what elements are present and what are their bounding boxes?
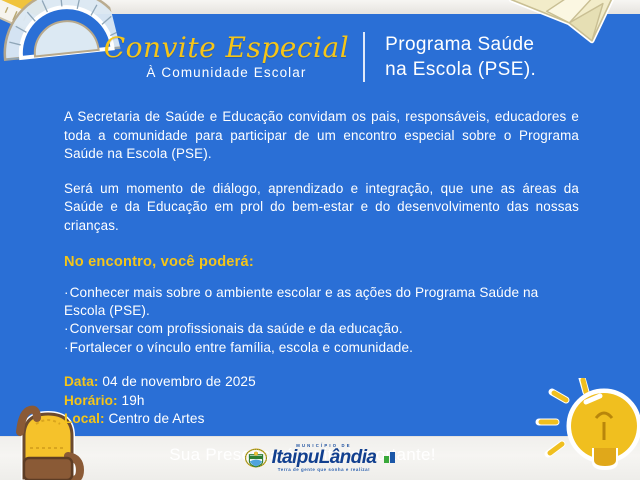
detail-row: Horário: 19h [64,392,579,411]
detail-label: Horário: [64,393,118,408]
invitation-poster: Convite Especial À Comunidade Escolar Pr… [0,0,640,480]
header-divider [363,32,365,82]
detail-value: Centro de Artes [105,411,205,426]
logo-text-block: MUNICÍPIO DE ItaipuLândia Terra de gente… [272,444,377,473]
program-title: Programa Saúdena Escola (PSE). [369,32,536,82]
municipal-logo: MUNICÍPIO DE ItaipuLândia Terra de gente… [245,444,396,473]
logo-tagline: Terra de gente que sonha e realiza! [272,468,377,472]
intro-paragraph-2: Será um momento de diálogo, aprendizado … [64,180,579,236]
detail-label: Data: [64,374,99,389]
logo-name: ItaipuLândia [272,448,377,467]
event-details: Data: 04 de novembro de 2025Horário: 19h… [64,373,579,429]
page-title: Convite Especial [104,33,349,63]
list-item: Conversar com profissionais da saúde e d… [64,320,579,338]
logo-bars-mark [384,452,395,463]
page-subtitle: À Comunidade Escolar [104,64,349,82]
poster-header: Convite Especial À Comunidade Escolar Pr… [0,26,640,88]
detail-value: 19h [118,393,145,408]
header-left-block: Convite Especial À Comunidade Escolar [104,33,363,82]
list-item: Fortalecer o vínculo entre família, esco… [64,339,579,357]
top-paper-band [0,0,640,15]
poster-footer: MUNICÍPIO DE ItaipuLândia Terra de gente… [0,436,640,480]
list-item: Conhecer mais sobre o ambiente escolar e… [64,284,579,321]
detail-value: 04 de novembro de 2025 [99,374,256,389]
detail-label: Local: [64,411,105,426]
poster-content: A Secretaria de Saúde e Educação convida… [64,108,579,467]
activities-list: Conhecer mais sobre o ambiente escolar e… [64,284,579,358]
coat-of-arms-icon [245,447,267,469]
intro-paragraph-1: A Secretaria de Saúde e Educação convida… [64,108,579,164]
activities-lead-in: No encontro, você poderá: [64,252,579,272]
detail-row: Local: Centro de Artes [64,410,579,429]
detail-row: Data: 04 de novembro de 2025 [64,373,579,392]
